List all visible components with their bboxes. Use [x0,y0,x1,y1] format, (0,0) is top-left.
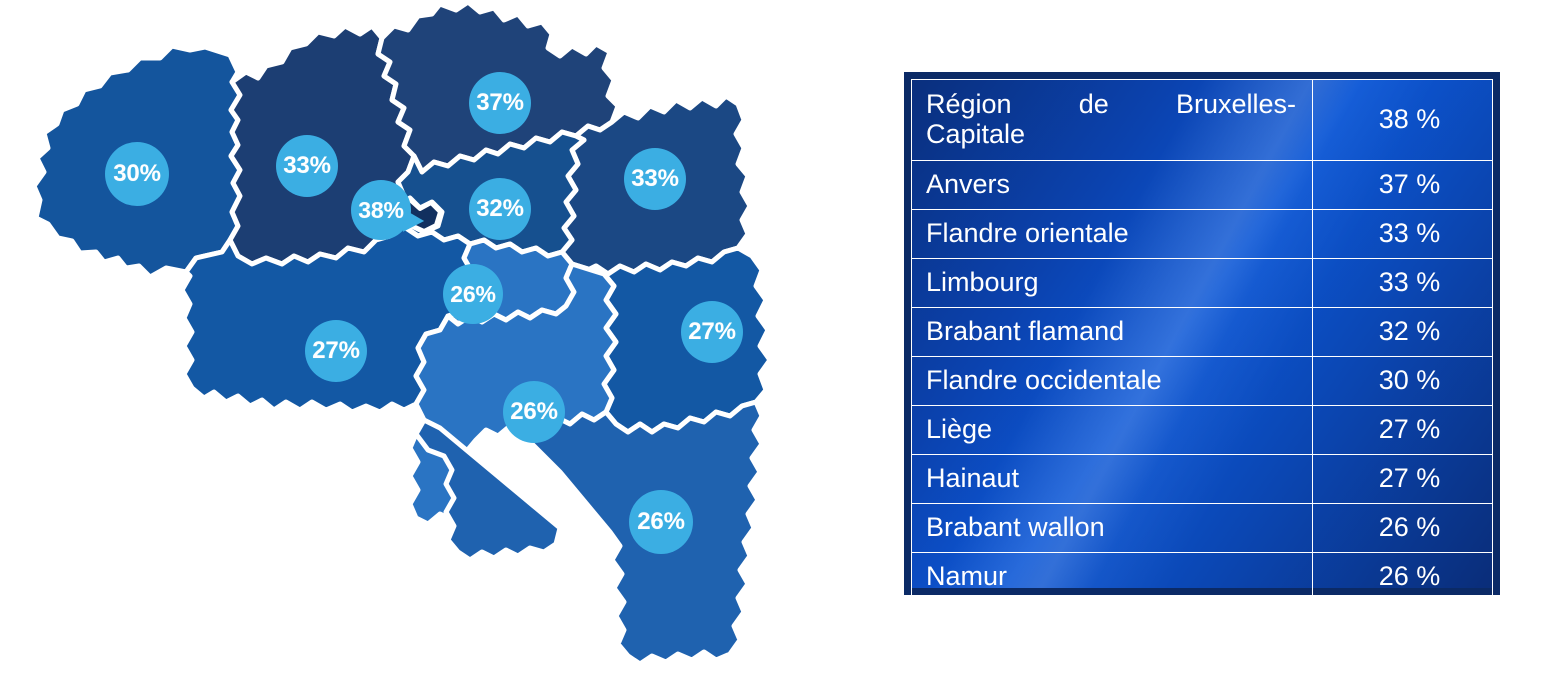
map-bubble-flandre-occidentale[interactable]: 30% [105,142,169,206]
map-bubble-label: 30% [113,160,160,188]
table-row: Liège27 % [912,406,1493,455]
map-bubble-brabant-flamand[interactable]: 32% [469,178,531,240]
map-bubble-label: 26% [510,398,557,426]
table-cell-region-name: Région de Bruxelles-Capitale [912,80,1313,161]
table-cell-percentage: 33 % [1313,259,1493,308]
table-cell-percentage: 33 % [1313,210,1493,259]
table-row: Flandre orientale33 % [912,210,1493,259]
map-bubble-label: 26% [450,281,495,308]
table-cell-percentage: 32 % [1313,308,1493,357]
map-bubble-brabant-wallon[interactable]: 26% [443,264,503,324]
table-row: Anvers37 % [912,161,1493,210]
table-cell-region-name: Luxembourg [912,602,1313,651]
map-bubble-label: 27% [688,318,735,346]
table-cell-percentage: 26 % [1313,553,1493,602]
table-row: Limbourg33 % [912,259,1493,308]
map-bubble-anvers[interactable]: 37% [469,72,531,134]
table-cell-region-name: Namur [912,553,1313,602]
region-percentage-table: Région de Bruxelles-Capitale38 %Anvers37… [904,72,1500,595]
table-inner-surface: Région de Bruxelles-Capitale38 %Anvers37… [911,79,1493,588]
table-cell-percentage: 26 % [1313,504,1493,553]
map-bubble-hainaut[interactable]: 27% [305,320,367,382]
map-bubble-namur[interactable]: 26% [503,381,565,443]
table-row: Brabant flamand32 % [912,308,1493,357]
map-bubble-label: 33% [283,152,330,180]
table-cell-region-name: Liège [912,406,1313,455]
map-bubble-luxembourg[interactable]: 26% [629,490,693,554]
table-row: Brabant wallon26 % [912,504,1493,553]
map-bubble-label: 32% [476,195,523,223]
map-bubble-label: 37% [476,89,523,117]
table-cell-region-name: Flandre orientale [912,210,1313,259]
table-cell-region-name: Brabant flamand [912,308,1313,357]
table-cell-percentage: 38 % [1313,80,1493,161]
belgium-map-svg [0,0,880,700]
map-bubble-bruxelles-capitale[interactable]: 38% [351,180,411,240]
table-row: Namur26 % [912,553,1493,602]
map-bubble-flandre-orientale[interactable]: 33% [276,135,338,197]
map-bubble-label: 27% [312,337,359,365]
table-row: Luxembourg26 % [912,602,1493,651]
map-bubble-limbourg[interactable]: 33% [624,148,686,210]
table-cell-region-name: Limbourg [912,259,1313,308]
map-bubble-label: 33% [631,165,678,193]
belgium-choropleth-map: 30%33%37%33%38%32%26%27%27%26%26% [0,0,880,700]
table-cell-percentage: 27 % [1313,455,1493,504]
table-cell-region-name: Hainaut [912,455,1313,504]
table-row: Hainaut27 % [912,455,1493,504]
map-bubble-liege[interactable]: 27% [681,301,743,363]
data-table: Région de Bruxelles-Capitale38 %Anvers37… [911,79,1493,651]
table-cell-region-name: Brabant wallon [912,504,1313,553]
region-name-line-1: Région de Bruxelles- [926,89,1296,119]
table-row: Région de Bruxelles-Capitale38 % [912,80,1493,161]
region-name-line-2: Capitale [926,119,1296,149]
table-cell-percentage: 30 % [1313,357,1493,406]
map-bubble-label: 26% [637,508,684,536]
table-row: Flandre occidentale30 % [912,357,1493,406]
table-body: Région de Bruxelles-Capitale38 %Anvers37… [912,80,1493,651]
table-cell-percentage: 27 % [1313,406,1493,455]
table-cell-percentage: 26 % [1313,602,1493,651]
table-cell-percentage: 37 % [1313,161,1493,210]
table-cell-region-name: Anvers [912,161,1313,210]
table-cell-region-name: Flandre occidentale [912,357,1313,406]
map-bubble-label: 38% [358,197,403,224]
slide-root: 30%33%37%33%38%32%26%27%27%26%26% Région… [0,0,1554,700]
